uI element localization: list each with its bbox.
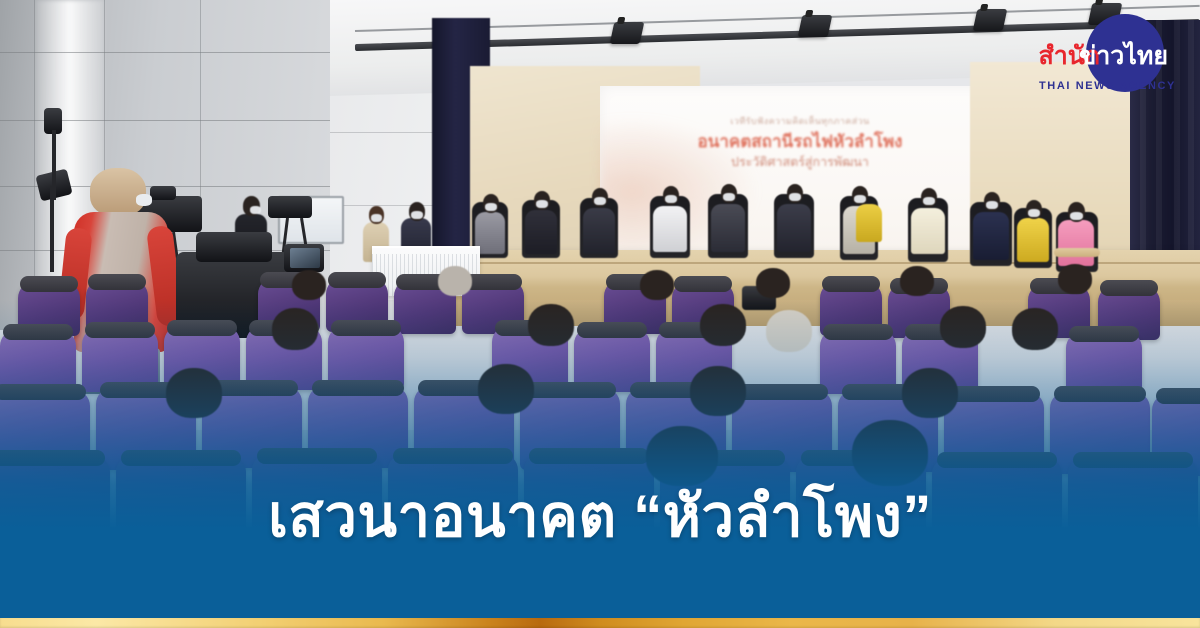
panelist (906, 186, 950, 264)
face-mask (136, 194, 152, 206)
gold-accent-bar (0, 618, 1200, 628)
backdrop-line-3: ประวัติศาสตร์สู่การพัฒนา (600, 152, 1000, 172)
spotlight-icon (798, 15, 833, 37)
audience-head (292, 270, 326, 300)
spotlight-icon (973, 9, 1008, 31)
audience-head (756, 268, 790, 298)
backdrop-line-2: อนาคตสถานีรถไฟหัวลำโพง (600, 128, 1000, 155)
panelist (578, 186, 620, 260)
broadcast-camera (268, 196, 312, 218)
spotlight-icon (610, 22, 645, 44)
panelist (772, 182, 816, 260)
logo-text-khaothai: ข่าวไทย (1079, 36, 1168, 76)
blonde-hair (90, 168, 146, 216)
audience-head (438, 266, 472, 296)
audience-head (900, 266, 934, 296)
panelist (648, 184, 692, 260)
panelist (852, 190, 886, 260)
logo-subtitle: THAI NEWS AGENCY (1039, 80, 1176, 92)
news-photo-card: เวทีรับฟังความคิดเห็นทุกภาคส่วน อนาคตสถา… (0, 0, 1200, 628)
panelist (706, 182, 750, 260)
audience-head (640, 270, 674, 300)
panelist (520, 188, 562, 260)
audience-head (1058, 264, 1092, 294)
photo-caption: เสวนาอนาคต “หัวลำโพง” (0, 488, 1200, 546)
backdrop-line-1: เวทีรับฟังความคิดเห็นทุกภาคส่วน (600, 114, 1000, 128)
caption-band (0, 545, 1200, 618)
lamp-stand (52, 130, 56, 200)
panelist (968, 188, 1014, 268)
thai-news-agency-logo[interactable]: สำนัก ข่าวไทย THAI NEWS AGENCY (1010, 8, 1186, 96)
